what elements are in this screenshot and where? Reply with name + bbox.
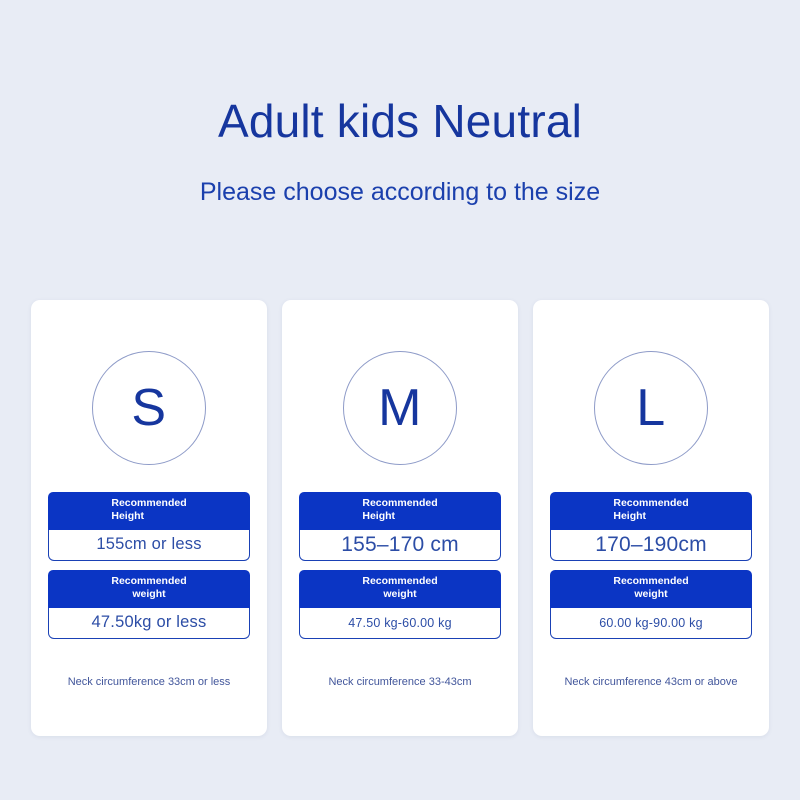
size-badge-circle: S — [92, 351, 206, 465]
spec-weight-label-line2: weight — [111, 588, 186, 601]
spec-height-label-line2: Height — [111, 510, 186, 523]
spec-height: Recommended Height 155–170 cm — [299, 492, 501, 561]
spec-height-value: 170–190cm — [550, 530, 752, 561]
spec-weight-label: Recommended weight — [48, 570, 250, 608]
spec-weight-label: Recommended weight — [550, 570, 752, 608]
spec-height-label-line2: Height — [362, 510, 437, 523]
spec-weight-value: 60.00 kg-90.00 kg — [550, 608, 752, 639]
page-title: Adult kids Neutral — [0, 0, 800, 147]
page-subtitle: Please choose according to the size — [0, 147, 800, 207]
spec-weight-label-line2: weight — [613, 588, 688, 601]
spec-height-label: Recommended Height — [550, 492, 752, 530]
size-card-list: S Recommended Height 155cm or less — [31, 300, 769, 736]
spec-height: Recommended Height 170–190cm — [550, 492, 752, 561]
size-card-l[interactable]: L Recommended Height 170–190cm Reco — [533, 300, 769, 736]
spec-height-label: Recommended Height — [299, 492, 501, 530]
spec-weight: Recommended weight 47.50kg or less — [48, 570, 250, 639]
size-letter: L — [636, 382, 665, 434]
spec-weight-label-line2: weight — [362, 588, 437, 601]
neck-circumference-note: Neck circumference 33cm or less — [31, 676, 267, 689]
spec-weight-label-line1: Recommended — [362, 575, 437, 588]
spec-weight-label-line1: Recommended — [613, 575, 688, 588]
size-letter: M — [378, 382, 422, 434]
neck-circumference-note: Neck circumference 43cm or above — [533, 676, 769, 689]
spec-weight-label: Recommended weight — [299, 570, 501, 608]
size-badge-circle: M — [343, 351, 457, 465]
size-card-s[interactable]: S Recommended Height 155cm or less — [31, 300, 267, 736]
spec-height-value: 155–170 cm — [299, 530, 501, 561]
size-card-m[interactable]: M Recommended Height 155–170 cm Rec — [282, 300, 518, 736]
spec-height-label: Recommended Height — [48, 492, 250, 530]
spec-height-label-line2: Height — [613, 510, 688, 523]
spec-height: Recommended Height 155cm or less — [48, 492, 250, 561]
spec-height-label-line1: Recommended — [362, 497, 437, 510]
spec-weight-value: 47.50 kg-60.00 kg — [299, 608, 501, 639]
spec-list: Recommended Height 155–170 cm Recommende… — [299, 492, 501, 648]
neck-circumference-note: Neck circumference 33-43cm — [282, 676, 518, 689]
spec-weight-label-line1: Recommended — [111, 575, 186, 588]
spec-weight-value: 47.50kg or less — [48, 608, 250, 639]
spec-height-value: 155cm or less — [48, 530, 250, 561]
spec-height-label-line1: Recommended — [111, 497, 186, 510]
page-header: Adult kids Neutral Please choose accordi… — [0, 0, 800, 206]
spec-list: Recommended Height 155cm or less Recomme… — [48, 492, 250, 648]
spec-height-label-line1: Recommended — [613, 497, 688, 510]
spec-weight: Recommended weight 47.50 kg-60.00 kg — [299, 570, 501, 639]
size-letter: S — [131, 382, 166, 434]
size-chart-page: Adult kids Neutral Please choose accordi… — [0, 0, 800, 800]
spec-weight: Recommended weight 60.00 kg-90.00 kg — [550, 570, 752, 639]
spec-list: Recommended Height 170–190cm Recommended… — [550, 492, 752, 648]
size-badge-circle: L — [594, 351, 708, 465]
